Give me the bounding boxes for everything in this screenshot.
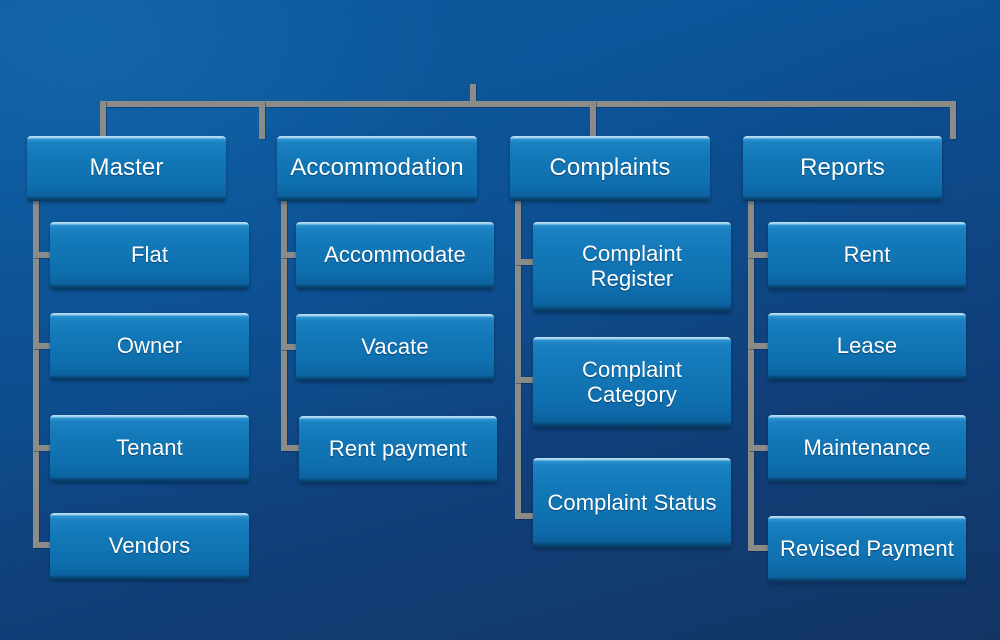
node-label-complaints: Complaints <box>543 155 676 182</box>
drop-connector-master <box>100 101 106 139</box>
node-rent-payment[interactable]: Rent payment <box>299 416 497 483</box>
node-label-maintenance: Maintenance <box>797 436 936 461</box>
node-label-complaint-category: Complaint Category <box>533 358 731 407</box>
stub-connector-rent <box>748 252 770 258</box>
diagram-canvas: Master Accommodation Complaints Reports … <box>0 0 1000 640</box>
stub-connector-maintenance <box>748 445 770 451</box>
node-label-accommodation: Accommodation <box>284 155 469 182</box>
stub-connector-lease <box>748 343 770 349</box>
drop-connector-complaints <box>590 101 596 139</box>
node-tenant[interactable]: Tenant <box>50 415 249 482</box>
node-label-lease: Lease <box>831 334 903 359</box>
node-maintenance[interactable]: Maintenance <box>768 415 966 482</box>
node-label-rent: Rent <box>838 243 897 268</box>
node-accommodation[interactable]: Accommodation <box>277 136 477 201</box>
node-complaint-status[interactable]: Complaint Status <box>533 458 731 548</box>
spine-connector-complaints <box>515 199 521 519</box>
node-label-flat: Flat <box>125 243 174 268</box>
node-flat[interactable]: Flat <box>50 222 249 289</box>
stub-connector-rent-payment <box>281 445 301 451</box>
stub-connector-revised-payment <box>748 545 770 551</box>
drop-connector-accommodation <box>259 101 265 139</box>
spine-connector-accommodation <box>281 199 287 451</box>
node-label-tenant: Tenant <box>110 436 189 461</box>
node-label-accommodate: Accommodate <box>318 243 472 268</box>
node-label-master: Master <box>84 155 170 182</box>
drop-connector-reports <box>950 101 956 139</box>
node-vendors[interactable]: Vendors <box>50 513 249 580</box>
node-lease[interactable]: Lease <box>768 313 966 380</box>
node-complaints[interactable]: Complaints <box>510 136 710 201</box>
node-label-complaint-register: Complaint Register <box>533 242 731 291</box>
node-label-complaint-status: Complaint Status <box>541 491 722 516</box>
node-owner[interactable]: Owner <box>50 313 249 380</box>
node-accommodate[interactable]: Accommodate <box>296 222 494 289</box>
top-bus-connector <box>100 101 956 107</box>
node-vacate[interactable]: Vacate <box>296 314 494 381</box>
node-rent[interactable]: Rent <box>768 222 966 289</box>
spine-connector-master <box>33 198 39 548</box>
node-label-reports: Reports <box>794 155 891 182</box>
node-revised-payment[interactable]: Revised Payment <box>768 516 966 582</box>
node-master[interactable]: Master <box>27 136 226 201</box>
node-complaint-category[interactable]: Complaint Category <box>533 337 731 428</box>
node-label-owner: Owner <box>111 334 188 359</box>
node-label-vendors: Vendors <box>103 534 196 559</box>
node-complaint-register[interactable]: Complaint Register <box>533 222 731 312</box>
node-label-rent-payment: Rent payment <box>323 437 473 462</box>
node-reports[interactable]: Reports <box>743 136 942 201</box>
node-label-vacate: Vacate <box>355 335 434 360</box>
node-label-revised-payment: Revised Payment <box>774 537 960 562</box>
